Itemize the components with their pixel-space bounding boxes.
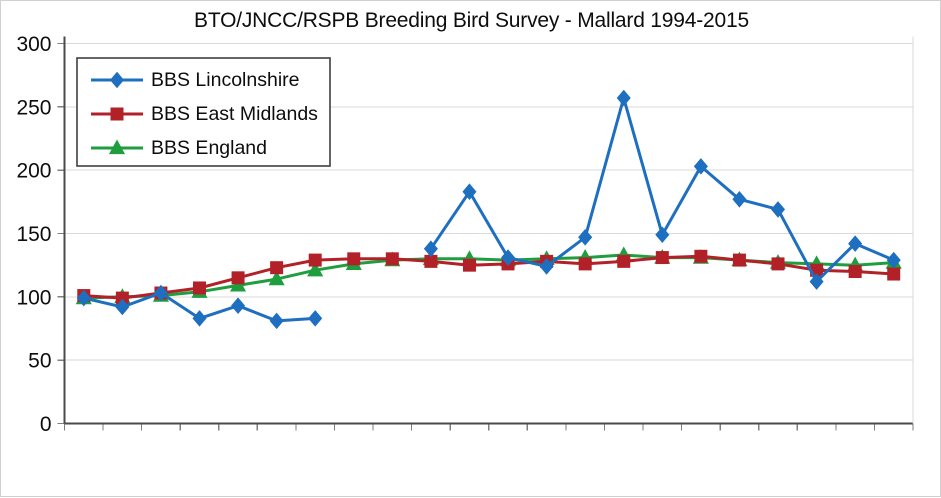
legend-label: BBS Lincolnshire	[151, 69, 300, 91]
data-point	[271, 262, 283, 274]
y-axis-tick-label: 100	[16, 286, 51, 309]
legend-label: BBS England	[151, 137, 267, 159]
data-point	[386, 253, 398, 265]
data-point	[618, 255, 630, 267]
data-point	[232, 298, 245, 313]
y-axis-labels: 300250200150100500	[16, 33, 51, 436]
legend-label: BBS East Midlands	[151, 103, 318, 125]
data-point	[733, 254, 745, 266]
chart-legend: BBS LincolnshireBBS East MidlandsBBS Eng…	[77, 58, 330, 166]
data-point	[425, 255, 437, 267]
y-axis-tick-label: 0	[40, 413, 52, 436]
y-axis-tick-label: 200	[16, 160, 51, 183]
chart-plot-area: 300250200150100500 199419951996199719981…	[1, 1, 941, 498]
y-axis-tick-label: 150	[16, 223, 51, 246]
data-point	[193, 311, 206, 326]
data-point	[849, 266, 861, 278]
y-axis-tick-label: 250	[16, 96, 51, 119]
data-point	[348, 253, 360, 265]
data-point	[617, 90, 630, 105]
chart-container: BTO/JNCC/RSPB Breeding Bird Survey - Mal…	[0, 0, 941, 497]
data-point	[695, 250, 707, 262]
data-point	[270, 313, 283, 328]
data-point	[232, 272, 244, 284]
data-point	[579, 258, 591, 270]
y-axis-tick-label: 50	[28, 350, 51, 373]
data-point	[463, 259, 475, 271]
legend-marker-square-icon	[111, 108, 123, 120]
data-point	[309, 254, 321, 266]
y-axis-tick-label: 300	[16, 33, 51, 56]
data-point	[888, 268, 900, 280]
data-point	[193, 282, 205, 294]
data-point	[656, 252, 668, 264]
series-bbs-england	[77, 248, 901, 304]
data-point	[772, 258, 784, 270]
data-point	[309, 311, 322, 326]
